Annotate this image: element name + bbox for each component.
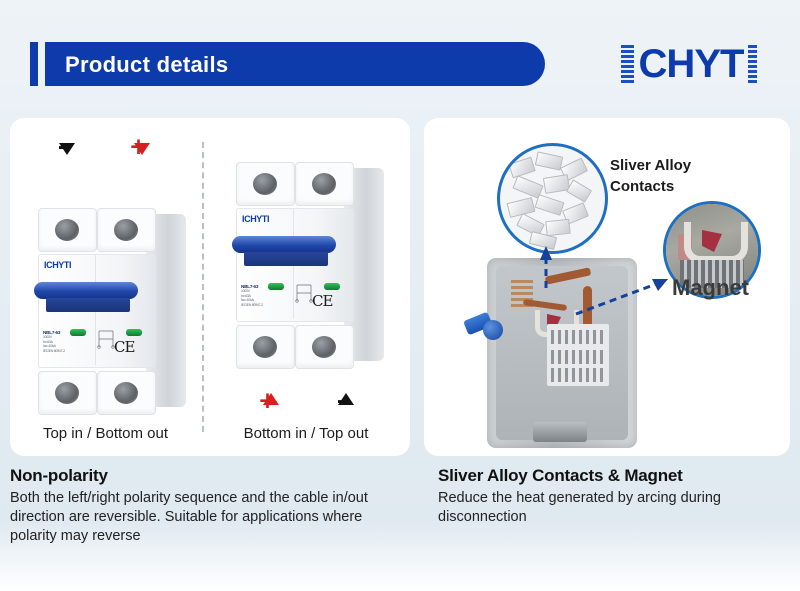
breaker-brand-label: ICHYTI — [44, 260, 71, 270]
terminal-top-right — [97, 208, 156, 252]
lug-knob-icon — [483, 320, 503, 340]
callout-contacts-line2: Contacts — [610, 176, 691, 197]
page-title: Product details — [65, 52, 228, 78]
left-caption-body: Both the left/right polarity sequence an… — [10, 489, 410, 546]
trip-coil — [515, 330, 543, 384]
wiring-schematic-icon — [97, 328, 115, 350]
left-caption-title: Non-polarity — [10, 466, 410, 486]
ce-mark-icon: CE — [114, 338, 134, 356]
breaker-toggle-lever[interactable] — [34, 282, 138, 299]
wiring-schematic-icon — [295, 282, 313, 304]
polarity-positive-a: + — [101, 140, 176, 173]
rating-standard: IEC/EN 60947-2 — [43, 349, 93, 354]
breaker-toggle-base — [46, 298, 130, 312]
callout-contacts-line1: Sliver Alloy — [610, 155, 691, 176]
breaker-toggle-lever[interactable] — [232, 236, 336, 253]
breaker-figure-bottom-in: ICHYTI NBL7-63 1000V In=63A Icu=10kA IEC… — [216, 140, 396, 440]
polarity-positive-b: + — [230, 376, 305, 409]
breaker-brand-label: ICHYTI — [242, 214, 269, 224]
status-indicator-left — [268, 283, 284, 290]
polarity-markers-top-a: – + — [26, 140, 176, 173]
breaker-figure-top-in: – + ICHYTI NBL7-63 1000V In=63A Icu=10kA… — [18, 140, 193, 440]
header-accent-bar — [30, 42, 38, 86]
circuit-breaker-body-a: ICHYTI NBL7-63 1000V In=63A Icu=10kA IEC… — [38, 208, 163, 413]
polarity-markers-bottom-b: + – — [230, 376, 380, 409]
figure-divider — [202, 142, 204, 432]
logo-text: CHYT — [639, 44, 744, 84]
silver-alloy-contacts-inset — [497, 143, 608, 254]
terminal-bottom-right — [295, 325, 354, 369]
polarity-negative-b: – — [305, 376, 380, 409]
breaker-toggle-base — [244, 252, 328, 266]
figure-caption-a: Top in / Bottom out — [18, 425, 193, 442]
breaker-cutaway-diagram — [487, 258, 637, 448]
figure-caption-b: Bottom in / Top out — [216, 425, 396, 442]
left-caption-block: Non-polarity Both the left/right polarit… — [10, 466, 410, 546]
terminal-bottom-left — [38, 371, 97, 415]
arc-chute — [547, 324, 609, 386]
terminal-lug — [465, 310, 509, 342]
status-indicator-right — [126, 329, 142, 336]
status-indicator-left — [70, 329, 86, 336]
right-caption-body: Reduce the heat generated by arcing duri… — [438, 489, 790, 527]
arrow-up-red-icon — [263, 376, 272, 394]
arrow-up-black-icon — [338, 376, 347, 394]
callout-label-magnet: Magnet — [672, 275, 749, 301]
brand-logo: CHYT — [598, 38, 780, 90]
right-caption-title: Sliver Alloy Contacts & Magnet — [438, 466, 790, 486]
rating-standard: IEC/EN 60947-2 — [241, 303, 291, 308]
terminal-top-left — [38, 208, 97, 252]
arrow-down-red-icon — [134, 155, 143, 173]
terminal-top-right — [295, 162, 354, 206]
status-indicator-right — [324, 283, 340, 290]
callout-label-contacts: Sliver Alloy Contacts — [610, 155, 691, 197]
terminal-bottom-left — [236, 325, 295, 369]
logo-right-bars-icon — [748, 45, 757, 83]
ce-mark-icon: CE — [312, 292, 332, 310]
polarity-negative-a: – — [26, 140, 101, 173]
arrow-down-black-icon — [59, 155, 68, 173]
right-caption-block: Sliver Alloy Contacts & Magnet Reduce th… — [438, 466, 790, 527]
terminal-bottom-right — [97, 371, 156, 415]
logo-left-bars-icon — [621, 45, 634, 83]
circuit-breaker-body-b: ICHYTI NBL7-63 1000V In=63A Icu=10kA IEC… — [236, 162, 361, 367]
terminal-screw-block — [533, 422, 587, 442]
page-header: Product details CHYT — [0, 0, 800, 108]
terminal-top-left — [236, 162, 295, 206]
